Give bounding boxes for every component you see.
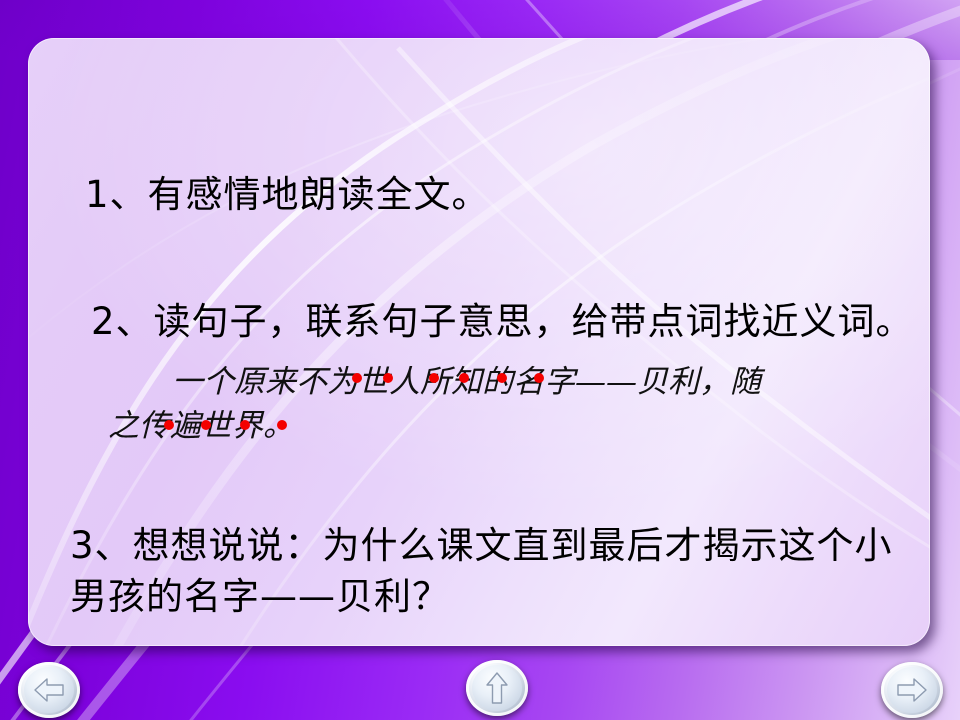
home-arrow-button[interactable] <box>466 660 528 716</box>
presentation-slide: 1、有感情地朗读全文。 2、读句子，联系句子意思，给带点词找近义词。 一个原来不… <box>0 0 960 720</box>
arrow-left-icon <box>18 662 80 718</box>
arrow-right-icon <box>881 662 943 718</box>
back-arrow-button[interactable] <box>18 662 80 718</box>
emphasis-dot <box>383 373 393 383</box>
question-item-3-line-1: 3、想想说说：为什么课文直到最后才揭示这个小 <box>70 524 893 567</box>
emphasis-dot <box>164 420 174 430</box>
panel-content: 1、有感情地朗读全文。 2、读句子，联系句子意思，给带点词找近义词。 一个原来不… <box>28 38 930 646</box>
question-item-3: 3、想想说说：为什么课文直到最后才揭示这个小男孩的名字——贝利？ <box>70 520 930 622</box>
question-item-3-line-2: 男孩的名字——贝利？ <box>70 575 450 618</box>
next-arrow-button[interactable] <box>881 662 943 718</box>
emphasis-dot <box>352 373 362 383</box>
emphasis-dot <box>429 373 439 383</box>
question-item-1: 1、有感情地朗读全文。 <box>85 164 490 218</box>
emphasis-dot <box>201 420 211 430</box>
emphasis-dot <box>534 373 544 383</box>
emphasis-dot <box>277 420 287 430</box>
emphasis-dot <box>459 373 469 383</box>
question-item-2: 2、读句子，联系句子意思，给带点词找近义词。 <box>91 291 914 345</box>
emphasis-dot <box>240 420 250 430</box>
content-panel: 1、有感情地朗读全文。 2、读句子，联系句子意思，给带点词找近义词。 一个原来不… <box>28 38 930 646</box>
arrow-up-icon <box>466 660 528 716</box>
emphasis-dot <box>497 373 507 383</box>
